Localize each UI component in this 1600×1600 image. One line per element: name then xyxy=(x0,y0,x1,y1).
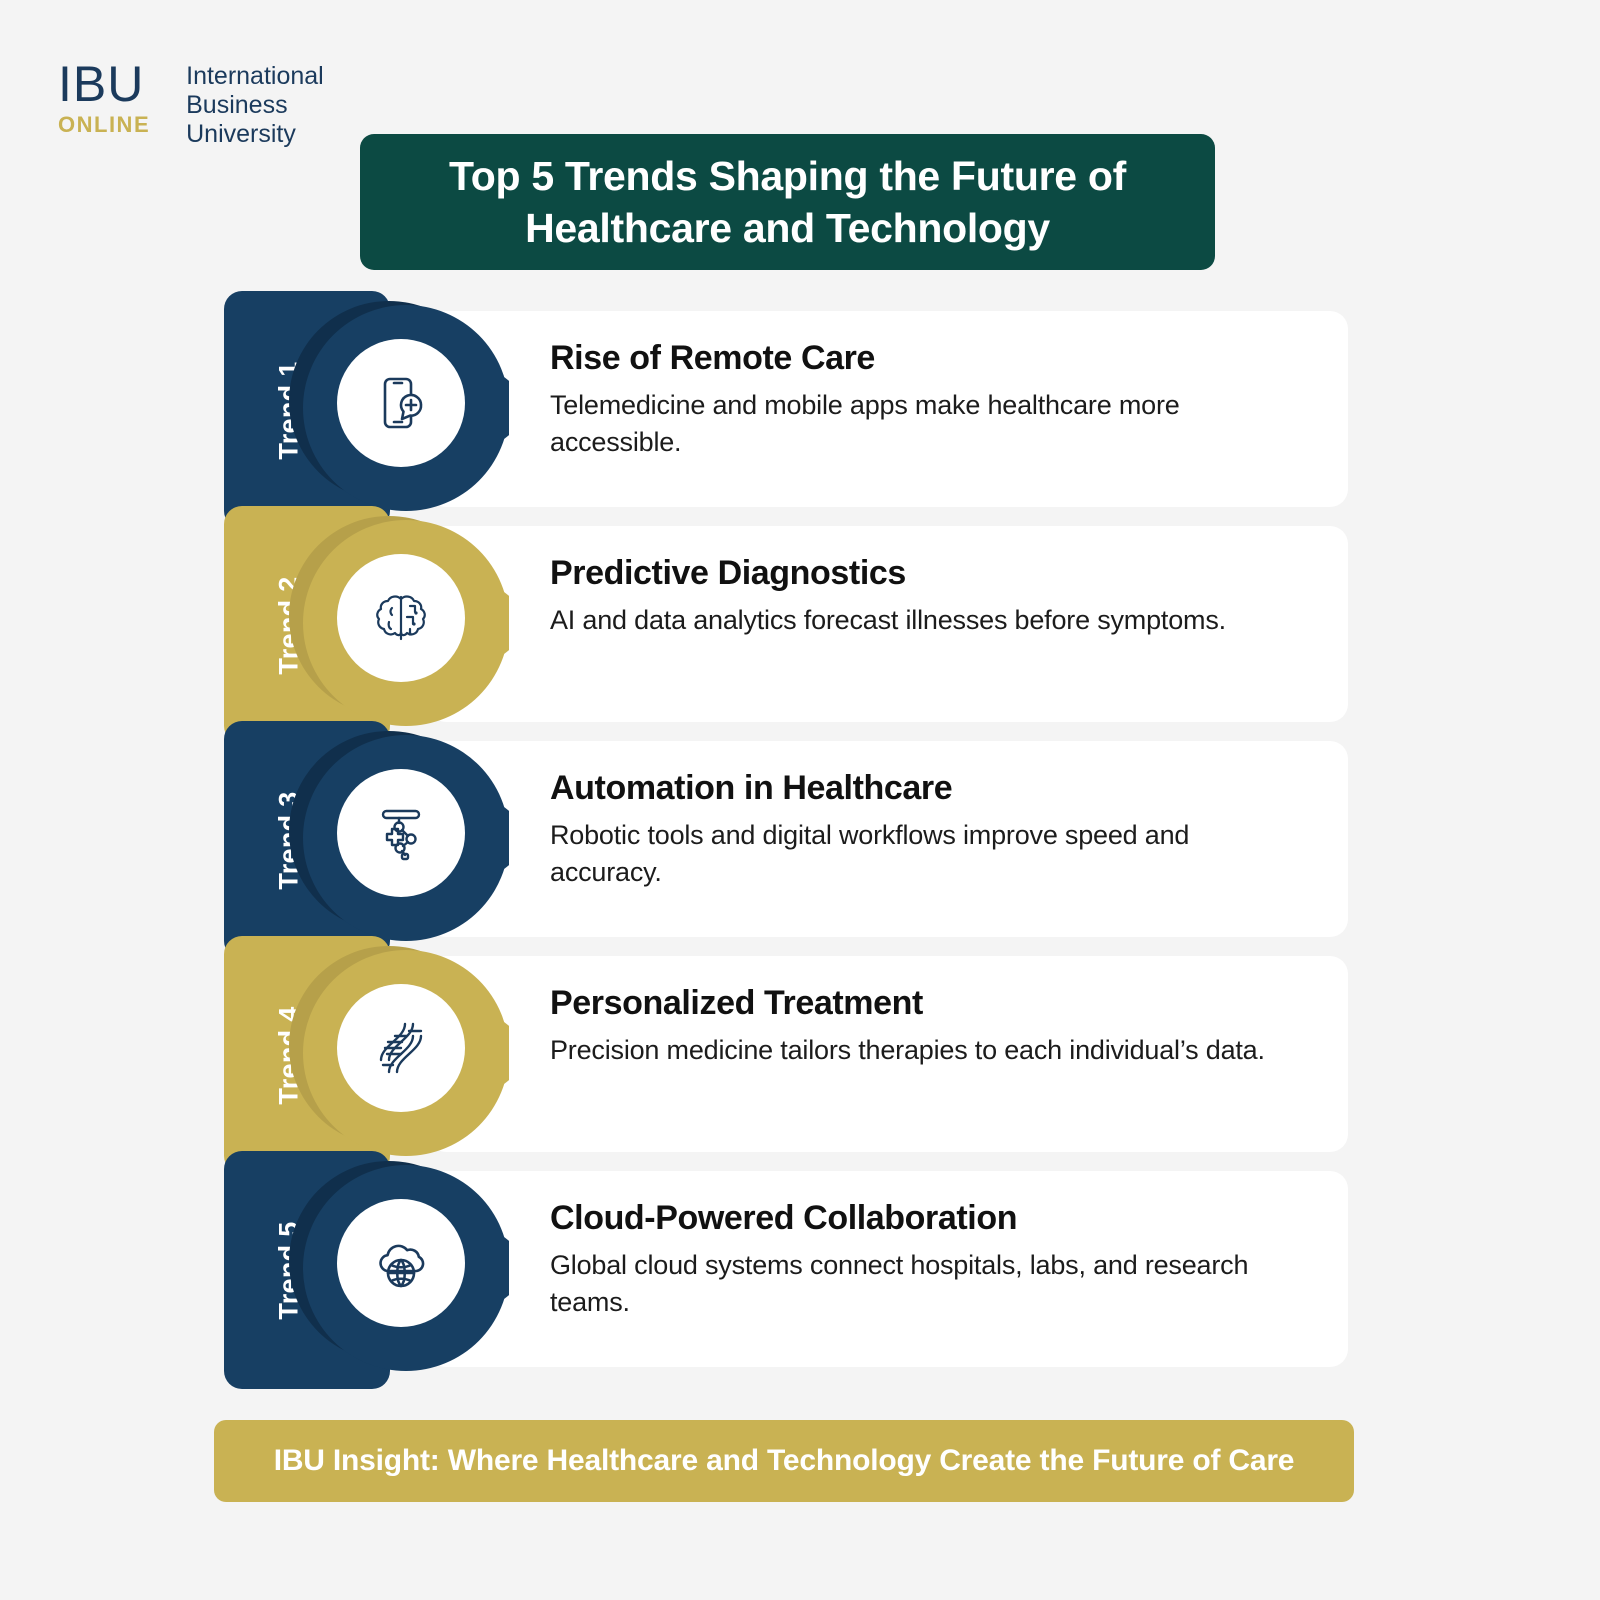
trend-badge xyxy=(289,946,549,1166)
logo-mark-subtext: ONLINE xyxy=(58,112,150,138)
trend-title: Automation in Healthcare xyxy=(550,767,1308,809)
trend-title: Rise of Remote Care xyxy=(550,337,1308,379)
infographic-page: IBU ONLINE International Business Univer… xyxy=(0,0,1600,1600)
trend-card: Rise of Remote Care Telemedicine and mob… xyxy=(428,311,1348,507)
logo-mark-text: IBU xyxy=(58,58,144,110)
trend-title: Predictive Diagnostics xyxy=(550,552,1308,594)
trend-card: Cloud-Powered Collaboration Global cloud… xyxy=(428,1171,1348,1367)
cloud-globe-icon xyxy=(369,1231,433,1295)
footer-text: IBU Insight: Where Healthcare and Techno… xyxy=(274,1444,1295,1478)
logo-wordmark-line-3: University xyxy=(186,120,324,149)
trend-badge xyxy=(289,301,549,521)
trend-title: Cloud-Powered Collaboration xyxy=(550,1197,1308,1239)
trend-badge xyxy=(289,1161,549,1381)
trend-description: Global cloud systems connect hospitals, … xyxy=(550,1247,1308,1321)
badge-disc xyxy=(337,1199,465,1327)
page-title: Top 5 Trends Shaping the Future of Healt… xyxy=(384,150,1191,254)
robotic-arm-icon xyxy=(369,801,433,865)
logo-wordmark-line-1: International xyxy=(186,62,324,91)
trend-description: Robotic tools and digital workflows impr… xyxy=(550,817,1308,891)
trend-description: Telemedicine and mobile apps make health… xyxy=(550,387,1308,461)
logo-mark: IBU ONLINE xyxy=(58,58,150,138)
mobile-health-icon xyxy=(369,371,433,435)
trend-title: Personalized Treatment xyxy=(550,982,1308,1024)
trend-card: Automation in Healthcare Robotic tools a… xyxy=(428,741,1348,937)
trend-row: Cloud-Powered Collaboration Global cloud… xyxy=(0,1151,1600,1409)
badge-disc xyxy=(337,339,465,467)
trend-card: Predictive Diagnostics AI and data analy… xyxy=(428,526,1348,722)
ibu-logo: IBU ONLINE International Business Univer… xyxy=(58,58,324,149)
badge-disc xyxy=(337,769,465,897)
badge-disc xyxy=(337,554,465,682)
dna-helix-icon xyxy=(369,1016,433,1080)
trend-description: Precision medicine tailors therapies to … xyxy=(550,1032,1308,1069)
trend-description: AI and data analytics forecast illnesses… xyxy=(550,602,1308,639)
logo-wordmark-line-2: Business xyxy=(186,91,324,120)
title-banner: Top 5 Trends Shaping the Future of Healt… xyxy=(360,134,1215,270)
brain-circuit-icon xyxy=(369,586,433,650)
logo-wordmark: International Business University xyxy=(186,58,324,149)
trend-badge xyxy=(289,516,549,736)
trend-card: Personalized Treatment Precision medicin… xyxy=(428,956,1348,1152)
badge-disc xyxy=(337,984,465,1112)
trend-stack: Rise of Remote Care Telemedicine and mob… xyxy=(0,291,1600,1378)
footer-banner: IBU Insight: Where Healthcare and Techno… xyxy=(214,1420,1354,1502)
trend-badge xyxy=(289,731,549,951)
